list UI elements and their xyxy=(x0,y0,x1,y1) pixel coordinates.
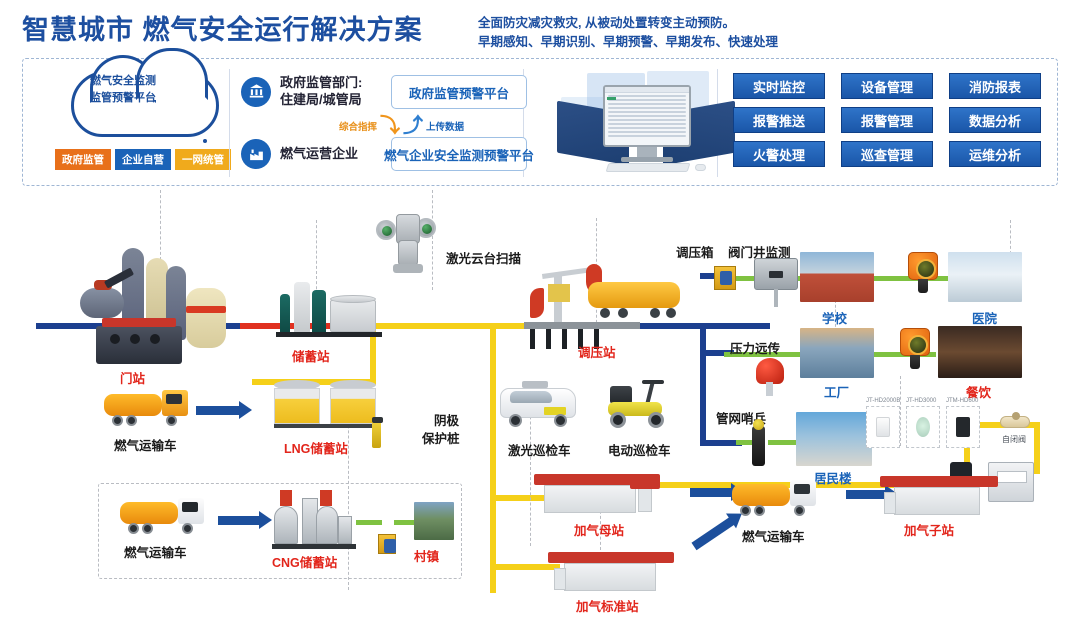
gas-detector-restaurant xyxy=(900,328,930,356)
label-transport-truck-3: 燃气运输车 xyxy=(742,526,805,545)
car-window xyxy=(510,391,552,403)
platform-mode-tags: 政府监管 企业自营 一网统管 xyxy=(55,149,231,170)
data-exchange-group: 综合指挥 ⤵ ⤴ 上传数据 xyxy=(339,116,464,136)
standard-station-illustration xyxy=(548,546,674,594)
gate-skid-unit xyxy=(96,326,182,364)
label-electric-patrol-car: 电动巡检车 xyxy=(608,440,671,459)
button-fire-report[interactable]: 消防报表 xyxy=(949,73,1041,99)
label-cng-storage: CNG储蓄站 xyxy=(272,552,337,571)
storage-base xyxy=(276,332,382,337)
label-device-model-1: JT-HD2000B xyxy=(866,398,900,404)
gate-tank-stripe xyxy=(186,306,226,313)
storage-station-illustration xyxy=(276,280,386,340)
label-device-model-2: JT-HD3000 xyxy=(906,398,936,404)
scooter-handlebar xyxy=(642,380,664,384)
self-closing-valve-device xyxy=(1000,416,1030,428)
label-self-closing-valve: 自闭阀 xyxy=(1002,434,1026,445)
factory-icon xyxy=(241,139,271,169)
gate-skid-detail-2 xyxy=(130,334,140,344)
org-label-government-line-2: 住建局/城管局 xyxy=(280,92,362,109)
pipe-sentinel-device xyxy=(752,426,765,466)
label-transport-truck-2: 燃气运输车 xyxy=(124,542,187,561)
label-sub-station: 加气子站 xyxy=(904,520,954,539)
pipeline-diagram: 门站 储蓄站 激光云台扫描 xyxy=(0,190,1080,618)
label-storage-station: 储蓄站 xyxy=(292,346,330,365)
deck-leg-3 xyxy=(562,329,567,349)
laser-lens-left xyxy=(376,220,396,240)
rail-tank-wheel-3 xyxy=(650,308,660,318)
cloud-label-line-1: 燃气安全监测 xyxy=(49,73,197,90)
laser-patrol-car-illustration xyxy=(500,388,586,434)
storage-tank xyxy=(330,300,376,332)
feature-button-grid: 实时监控 设备管理 消防报表 报警推送 报警管理 数据分析 火警处理 巡查管理 … xyxy=(733,73,1041,167)
rail-tank-wheel-4 xyxy=(666,308,676,318)
monitor-base xyxy=(621,157,673,162)
button-device-management[interactable]: 设备管理 xyxy=(841,73,933,99)
pipe-blue-down-right xyxy=(700,323,706,445)
pile-post xyxy=(372,422,381,448)
car-wheel-right xyxy=(554,414,567,427)
lng-storage-illustration xyxy=(274,388,380,432)
detector-head-1 xyxy=(908,252,938,280)
photo-restaurant xyxy=(938,326,1022,378)
rail-tank-wheel-1 xyxy=(600,308,610,318)
lng-tank-2 xyxy=(330,388,376,424)
cng-valve-device xyxy=(378,534,396,554)
arrow-down-orange-icon: ⤵ xyxy=(380,116,400,136)
pressure-transmitter-device xyxy=(756,358,784,384)
button-alarm-push[interactable]: 报警推送 xyxy=(733,107,825,133)
truck-wheel-1c xyxy=(166,415,177,426)
truck-wheel-2a xyxy=(128,523,139,534)
rail-tank-wheel-2 xyxy=(618,308,628,318)
button-operation-analysis[interactable]: 运维分析 xyxy=(949,141,1041,167)
org-row-enterprise: 燃气运营企业 xyxy=(241,139,358,169)
gate-tank xyxy=(186,288,226,348)
label-factory: 工厂 xyxy=(824,382,849,401)
sub-station-building xyxy=(894,487,980,515)
cng-storage-illustration xyxy=(272,490,360,550)
monitor-screen-content xyxy=(605,87,689,145)
cng-base xyxy=(272,544,356,549)
platform-box-government[interactable]: 政府监管预警平台 xyxy=(391,75,527,109)
pumpjack-gearbox xyxy=(548,284,570,302)
label-transport-truck-1: 燃气运输车 xyxy=(114,435,177,454)
cng-tower-1 xyxy=(274,506,298,544)
storage-column-3 xyxy=(312,290,326,332)
label-cathodic-pile-line1: 阴极 xyxy=(434,410,459,429)
mini-device-3 xyxy=(946,406,980,448)
cloud-dot-decoration xyxy=(203,139,207,143)
sub-station-pump-1 xyxy=(884,492,896,514)
cloud-platform-group: 燃气安全监测 监管预警平台 政府监管 企业自营 一网统管 xyxy=(49,67,239,177)
label-mother-station: 加气母站 xyxy=(574,520,624,539)
cng-stack-1 xyxy=(280,490,292,506)
detector-stem-2 xyxy=(910,355,920,369)
gate-drum xyxy=(80,288,124,318)
subtitle-line-2: 早期感知、早期识别、早期预警、早期发布、快速处理 xyxy=(478,33,778,52)
button-inspection-management[interactable]: 巡查管理 xyxy=(841,141,933,167)
tag-government[interactable]: 政府监管 xyxy=(55,149,111,170)
label-device-model-3: JTM-HD600 xyxy=(946,398,978,404)
gate-station-illustration xyxy=(60,248,220,368)
standard-station-canopy xyxy=(548,552,674,563)
pipe-yellow-trunk-down xyxy=(490,323,496,593)
arrow-station-to-truck xyxy=(690,488,732,497)
pipe-yellow-meter-down xyxy=(1034,422,1040,474)
truck-window-3 xyxy=(794,484,810,494)
platform-overview-panel: 燃气安全监测 监管预警平台 政府监管 企业自营 一网统管 xyxy=(22,58,1058,186)
button-data-analysis[interactable]: 数据分析 xyxy=(949,107,1041,133)
truck-window-1 xyxy=(166,394,182,404)
lng-tank-1 xyxy=(274,388,320,424)
laser-base xyxy=(393,264,423,273)
regulator-box-device xyxy=(754,258,798,290)
photo-hospital xyxy=(948,252,1022,302)
scooter-wheel-rear xyxy=(610,412,626,428)
button-fire-handling[interactable]: 火警处理 xyxy=(733,141,825,167)
gate-skid-top xyxy=(102,318,176,327)
storage-column-2 xyxy=(294,282,310,332)
button-realtime-monitoring[interactable]: 实时监控 xyxy=(733,73,825,99)
pipe-green-cng-2 xyxy=(394,520,416,525)
arrow-truck-to-cng xyxy=(218,516,260,525)
truck-wheel-3b xyxy=(754,505,765,516)
page-title: 智慧城市 燃气安全运行解决方案 xyxy=(22,8,423,47)
mother-station-building xyxy=(544,485,636,513)
regulator-box-stem xyxy=(774,289,778,307)
org-label-government-line-1: 政府监管部门: xyxy=(280,75,362,92)
gas-transport-truck-station xyxy=(732,480,828,518)
panel-divider-1 xyxy=(229,69,230,177)
rail-tank-body xyxy=(588,282,680,308)
label-gate-station: 门站 xyxy=(120,368,145,387)
valve-well-device xyxy=(714,266,736,290)
car-wheel-left xyxy=(509,414,522,427)
gate-skid-detail-1 xyxy=(110,334,120,344)
label-hospital: 医院 xyxy=(972,308,997,327)
truck-tank-3 xyxy=(732,484,790,506)
deck-leg-1 xyxy=(530,329,535,349)
cloud-label-line-2: 监管预警平台 xyxy=(49,90,197,107)
label-village: 村镇 xyxy=(414,546,439,565)
label-lng-storage: LNG储蓄站 xyxy=(284,438,348,457)
photo-school xyxy=(800,252,874,302)
mini-device-2 xyxy=(906,406,940,448)
laser-gimbal-illustration xyxy=(374,210,444,274)
scooter-stem xyxy=(645,382,654,404)
label-standard-station: 加气标准站 xyxy=(576,596,639,615)
gas-detector-school xyxy=(908,252,938,280)
sub-station-canopy xyxy=(880,476,998,487)
lng-tank-base xyxy=(274,424,378,428)
pile-cap xyxy=(372,417,383,423)
standard-station-building xyxy=(564,563,656,591)
label-regulator-station: 调压站 xyxy=(578,342,616,361)
pipe-green-cng-1 xyxy=(356,520,382,525)
gas-transport-truck-lng xyxy=(104,390,200,428)
keyboard-illustration xyxy=(606,163,691,172)
sub-station-illustration xyxy=(880,472,998,518)
truck-window-2 xyxy=(182,502,198,512)
org-row-government: 政府监管部门: 住建局/城管局 xyxy=(241,75,362,109)
tag-unified[interactable]: 一网统管 xyxy=(175,149,231,170)
detector-head-2 xyxy=(900,328,930,356)
storage-tank-cap xyxy=(330,295,376,303)
monitor-illustration xyxy=(551,67,741,179)
gas-transport-truck-cng xyxy=(120,498,216,536)
truck-wheel-1a xyxy=(112,415,123,426)
mother-station-canopy-right xyxy=(630,482,660,489)
pumpjack-counterweight xyxy=(530,288,544,318)
truck-wheel-2b xyxy=(142,523,153,534)
truck-tank-1 xyxy=(104,394,162,416)
cloud-platform-label: 燃气安全监测 监管预警平台 xyxy=(49,73,197,106)
exchange-label-command: 综合指挥 xyxy=(339,119,377,133)
deck-leg-2 xyxy=(546,329,551,349)
arrow-standard-to-truck xyxy=(691,517,734,550)
truck-wheel-3a xyxy=(740,505,751,516)
monitor-main-screen xyxy=(603,85,691,147)
cng-stack-2 xyxy=(320,490,332,506)
car-roof-rig xyxy=(522,381,548,388)
monitor-screen-rows xyxy=(605,93,689,141)
truck-wheel-1b xyxy=(126,415,137,426)
arrow-up-blue-icon: ⤴ xyxy=(403,116,423,136)
dash-guide-detector xyxy=(900,376,901,446)
org-label-government: 政府监管部门: 住建局/城管局 xyxy=(280,75,362,109)
label-cathodic-pile-line2: 保护桩 xyxy=(422,428,460,447)
tag-enterprise[interactable]: 企业自营 xyxy=(115,149,171,170)
mother-station-pump-1 xyxy=(638,488,652,512)
org-label-enterprise: 燃气运营企业 xyxy=(280,146,358,163)
photo-residential xyxy=(796,412,872,466)
photo-factory xyxy=(800,328,874,378)
truck-tank-2 xyxy=(120,502,178,524)
detector-stem-1 xyxy=(918,279,928,293)
government-building-icon xyxy=(241,77,271,107)
label-laser-patrol-car: 激光巡检车 xyxy=(508,440,571,459)
mother-station-illustration xyxy=(534,468,660,516)
button-alarm-management[interactable]: 报警管理 xyxy=(841,107,933,133)
cng-tower-3 xyxy=(316,506,338,544)
regulator-box-housing xyxy=(754,258,798,290)
photo-village xyxy=(414,502,454,540)
mouse-illustration xyxy=(695,164,706,171)
label-pressure-remote: 压力远传 xyxy=(730,338,780,357)
mini-device-1 xyxy=(866,406,900,448)
page-subtitle: 全面防灾减灾救灾, 从被动处置转变主动预防。 早期感知、早期识别、早期预警、早期… xyxy=(478,14,778,53)
gate-skid-detail-3 xyxy=(150,334,160,344)
exchange-label-upload: 上传数据 xyxy=(426,119,464,133)
infographic-canvas: 智慧城市 燃气安全运行解决方案 全面防灾减灾救灾, 从被动处置转变主动预防。 早… xyxy=(0,0,1080,618)
platform-box-enterprise[interactable]: 燃气企业安全监测预警平台 xyxy=(391,137,527,171)
label-laser-scan: 激光云台扫描 xyxy=(446,248,521,267)
arrow-truck-to-lng xyxy=(196,406,240,415)
label-school: 学校 xyxy=(822,308,847,327)
standard-station-pump-1 xyxy=(554,568,566,590)
cng-tower-4 xyxy=(338,516,352,544)
truck-wheel-3c xyxy=(794,505,805,516)
truck-wheel-2c xyxy=(182,523,193,534)
laser-pillar xyxy=(398,240,418,266)
scooter-wheel-front xyxy=(648,412,664,428)
subtitle-line-1: 全面防灾减灾救灾, 从被动处置转变主动预防。 xyxy=(478,14,778,33)
label-regulator-box: 调压箱 xyxy=(676,242,714,261)
storage-column-1 xyxy=(280,294,290,332)
rail-tank-illustration xyxy=(588,282,698,324)
